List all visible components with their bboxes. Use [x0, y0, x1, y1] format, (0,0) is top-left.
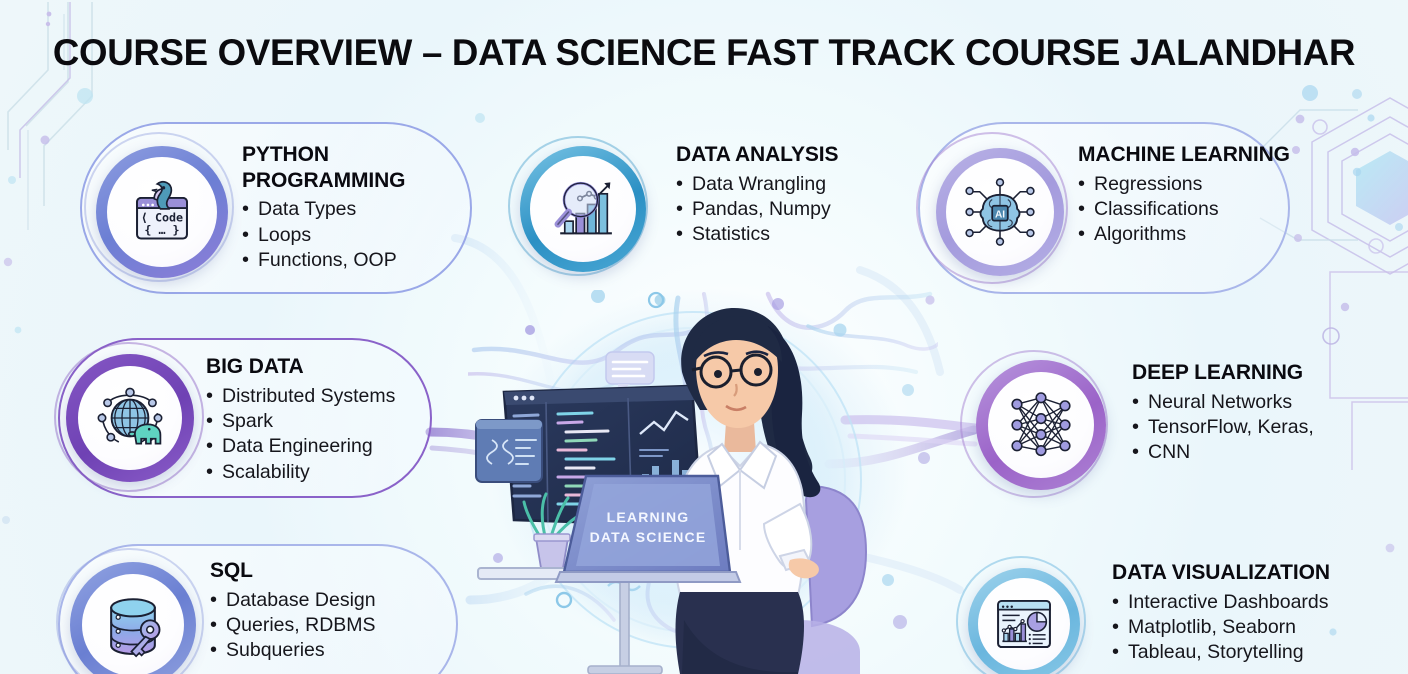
card-heading: DATA ANALYSIS: [676, 142, 898, 168]
magnifier-chart-glyph: [545, 171, 621, 247]
bullet-item: Distributed Systems: [206, 384, 436, 409]
bullet-item: Pandas, Numpy: [676, 197, 898, 222]
card-bullets: Data Types Loops Functions, OOP: [242, 197, 468, 273]
python-glyph: ⟨ Code { … }: [123, 173, 201, 251]
svg-text:{ … }: { … }: [144, 223, 179, 237]
bullet-item: Data Types: [242, 197, 468, 222]
card-data-visualization: DATA VISUALIZATION Interactive Dashboard…: [960, 550, 1384, 674]
bullet-item: Data Wrangling: [676, 172, 898, 197]
laptop-screen-line2: DATA SCIENCE: [590, 529, 707, 545]
page-title: COURSE OVERVIEW – DATA SCIENCE FAST TRAC…: [7, 32, 1401, 74]
magnifier-bar-chart-icon: [520, 146, 646, 272]
card-deep-learning: DEEP LEARNING Neural Networks TensorFlow…: [966, 352, 1366, 498]
laptop-screen-line1: LEARNING: [607, 509, 690, 525]
globe-network-elephant-icon: [66, 354, 194, 482]
card-bullets: Data Wrangling Pandas, Numpy Statistics: [676, 172, 898, 248]
bullet-item: Neural Networks: [1132, 390, 1366, 415]
bullet-item: Scalability: [206, 460, 436, 485]
bullet-item: Classifications: [1078, 197, 1290, 222]
bullet-item: Interactive Dashboards: [1112, 590, 1384, 615]
card-heading: PYTHON PROGRAMMING: [242, 142, 468, 193]
card-bullets: Neural Networks TensorFlow, Keras, CNN: [1132, 390, 1366, 466]
card-machine-learning: AI MACHINE LEARNING Regressions Classifi…: [918, 122, 1290, 294]
card-big-data: BIG DATA Distributed Systems Spark Data …: [58, 338, 432, 498]
infographic-canvas: COURSE OVERVIEW – DATA SCIENCE FAST TRAC…: [0, 0, 1408, 674]
card-bullets: Interactive Dashboards Matplotlib, Seabo…: [1112, 590, 1384, 666]
ai-brain-chip-icon: AI: [936, 148, 1064, 276]
python-code-window-icon: ⟨ Code { … }: [96, 146, 228, 278]
bigdata-glyph: [90, 378, 170, 458]
card-heading: DATA VISUALIZATION: [1112, 560, 1384, 586]
bullet-item: Database Design: [210, 588, 458, 613]
card-heading: MACHINE LEARNING: [1078, 142, 1290, 168]
dashboard-glyph: [988, 588, 1060, 660]
card-sql: SQL Database Design Queries, RDBMS Subqu…: [58, 544, 458, 674]
card-python-programming: ⟨ Code { … } PYTHON PROGRAMMING Data Typ…: [80, 122, 472, 294]
bullet-item: Data Engineering: [206, 434, 436, 459]
bullet-item: Queries, RDBMS: [210, 613, 458, 638]
bullet-item: Algorithms: [1078, 222, 1290, 247]
woman-data-scientist-at-desk: LEARNING DATA SCIENCE: [468, 290, 938, 674]
dashboard-charts-icon: [968, 568, 1080, 674]
bullet-item: CNN: [1132, 440, 1366, 465]
sql-db-glyph: [94, 586, 172, 664]
bullet-item: Matplotlib, Seaborn: [1112, 615, 1384, 640]
bullet-item: Loops: [242, 223, 468, 248]
bullet-item: Spark: [206, 409, 436, 434]
bullet-item: Regressions: [1078, 172, 1290, 197]
bullet-item: TensorFlow, Keras,: [1132, 415, 1366, 440]
bullet-item: Functions, OOP: [242, 248, 468, 273]
bullet-item: Subqueries: [210, 638, 458, 663]
database-key-icon: [70, 562, 196, 674]
card-bullets: Database Design Queries, RDBMS Subquerie…: [210, 588, 458, 664]
neural-net-glyph: [1001, 385, 1081, 465]
card-data-analysis: DATA ANALYSIS Data Wrangling Pandas, Num…: [508, 132, 898, 282]
card-heading: SQL: [210, 558, 458, 584]
bullet-item: Statistics: [676, 222, 898, 247]
neural-network-icon: [976, 360, 1106, 490]
svg-text:AI: AI: [995, 209, 1005, 220]
ai-brain-glyph: AI: [961, 173, 1039, 251]
bullet-item: Tableau, Storytelling: [1112, 640, 1384, 665]
center-illustration: LEARNING DATA SCIENCE: [468, 290, 938, 674]
card-heading: BIG DATA: [206, 354, 436, 380]
card-heading: DEEP LEARNING: [1132, 360, 1366, 386]
card-bullets: Distributed Systems Spark Data Engineeri…: [206, 384, 436, 485]
card-bullets: Regressions Classifications Algorithms: [1078, 172, 1290, 248]
